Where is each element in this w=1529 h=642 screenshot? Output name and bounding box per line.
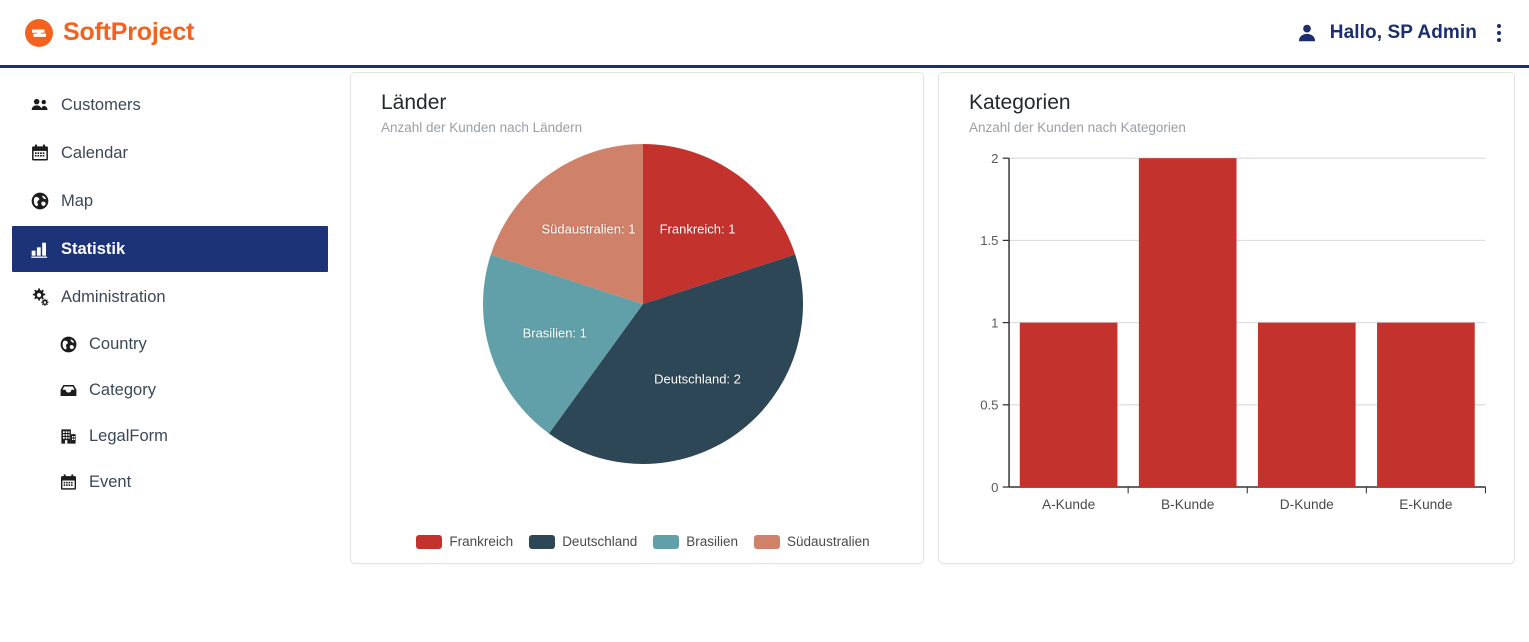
bar[interactable] [1377,323,1475,487]
user-greeting: Hallo, SP Admin [1330,22,1477,44]
sidebar-item-country[interactable]: Country [40,322,328,366]
x-axis-category-label: B-Kunde [1161,497,1214,512]
card-kategorien: Kategorien Anzahl der Kunden nach Katego… [938,72,1515,564]
sidebar-item-map[interactable]: Map [12,178,328,224]
sidebar-item-legalform[interactable]: LegalForm [40,414,328,458]
y-axis-tick-label: 0 [991,480,998,495]
legend-swatch [653,535,679,549]
legend-label: Südaustralien [787,534,870,549]
brand[interactable]: SoftProject [24,18,194,48]
building-icon [58,426,78,446]
brand-name: SoftProject [63,18,194,47]
legend-label: Frankreich [449,534,513,549]
card-laender: Länder Anzahl der Kunden nach Ländern Fr… [350,72,924,564]
bar-chart-icon [30,239,50,259]
sidebar: Customers Calendar [0,68,340,642]
sidebar-item-statistik[interactable]: Statistik [12,226,328,272]
sidebar-item-administration[interactable]: Administration [12,274,328,320]
x-axis-category-label: E-Kunde [1399,497,1452,512]
pie-chart[interactable]: Frankreich: 1Deutschland: 2Brasilien: 1S… [381,135,905,534]
kebab-menu-icon[interactable] [1489,21,1509,45]
gears-icon [30,287,50,307]
legend-item[interactable]: Deutschland [529,534,637,549]
y-axis-tick-label: 0.5 [980,398,998,413]
app-header: SoftProject Hallo, SP Admin [0,0,1529,68]
sidebar-item-event[interactable]: Event [40,460,328,504]
softproject-logo-icon [24,18,54,48]
globe-icon [58,334,78,354]
body: Customers Calendar [0,68,1529,642]
x-axis-category-label: D-Kunde [1280,497,1334,512]
pie-slice-labels: Frankreich: 1Deutschland: 2Brasilien: 1S… [482,135,804,465]
bar-chart[interactable]: 00.511.52A-KundeB-KundeD-KundeE-Kunde [969,135,1496,553]
card-subtitle: Anzahl der Kunden nach Ländern [381,120,905,135]
legend-swatch [529,535,555,549]
inbox-icon [58,380,78,400]
sidebar-item-label: Statistik [61,240,125,259]
sidebar-item-label: Category [89,381,156,400]
legend-label: Deutschland [562,534,637,549]
y-axis-tick-label: 1.5 [980,233,998,248]
card-title: Kategorien [969,91,1496,115]
x-axis-category-label: A-Kunde [1042,497,1095,512]
y-axis-tick-label: 2 [991,151,998,166]
legend-swatch [416,535,442,549]
main-content: Länder Anzahl der Kunden nach Ländern Fr… [340,68,1529,642]
calendar-icon [58,472,78,492]
bar[interactable] [1258,323,1356,487]
legend-label: Brasilien [686,534,738,549]
card-subtitle: Anzahl der Kunden nach Kategorien [969,120,1496,135]
legend-item[interactable]: Brasilien [653,534,738,549]
kebab-dot [1497,31,1501,35]
bar[interactable] [1139,158,1237,487]
pie-slice-label: Frankreich: 1 [660,222,736,237]
pie-slice-label: Südaustralien: 1 [541,222,635,237]
globe-icon [30,191,50,211]
pie-legend: FrankreichDeutschlandBrasilienSüdaustral… [381,534,905,553]
sidebar-item-label: Administration [61,288,166,307]
sidebar-item-label: Country [89,335,147,354]
card-title: Länder [381,91,905,115]
sidebar-subnav: Country Category [0,322,340,504]
sidebar-item-calendar[interactable]: Calendar [12,130,328,176]
people-icon [30,95,50,115]
legend-swatch [754,535,780,549]
sidebar-item-label: LegalForm [89,427,168,446]
bar[interactable] [1020,323,1118,487]
sidebar-item-label: Map [61,192,93,211]
pie-slice-label: Brasilien: 1 [523,325,587,340]
pie-chart-body: Frankreich: 1Deutschland: 2Brasilien: 1S… [381,135,905,534]
kebab-dot [1497,24,1501,28]
sidebar-item-label: Event [89,473,131,492]
y-axis-tick-label: 1 [991,315,998,330]
sidebar-item-label: Customers [61,96,141,115]
legend-item[interactable]: Frankreich [416,534,513,549]
header-right: Hallo, SP Admin [1296,21,1509,45]
sidebar-item-customers[interactable]: Customers [12,82,328,128]
sidebar-item-category[interactable]: Category [40,368,328,412]
calendar-icon [30,143,50,163]
bar-chart-body: 00.511.52A-KundeB-KundeD-KundeE-Kunde [969,135,1496,553]
legend-item[interactable]: Südaustralien [754,534,870,549]
kebab-dot [1497,38,1501,42]
user-avatar-icon [1296,22,1318,44]
sidebar-item-label: Calendar [61,144,128,163]
pie-slice-label: Deutschland: 2 [654,372,741,387]
